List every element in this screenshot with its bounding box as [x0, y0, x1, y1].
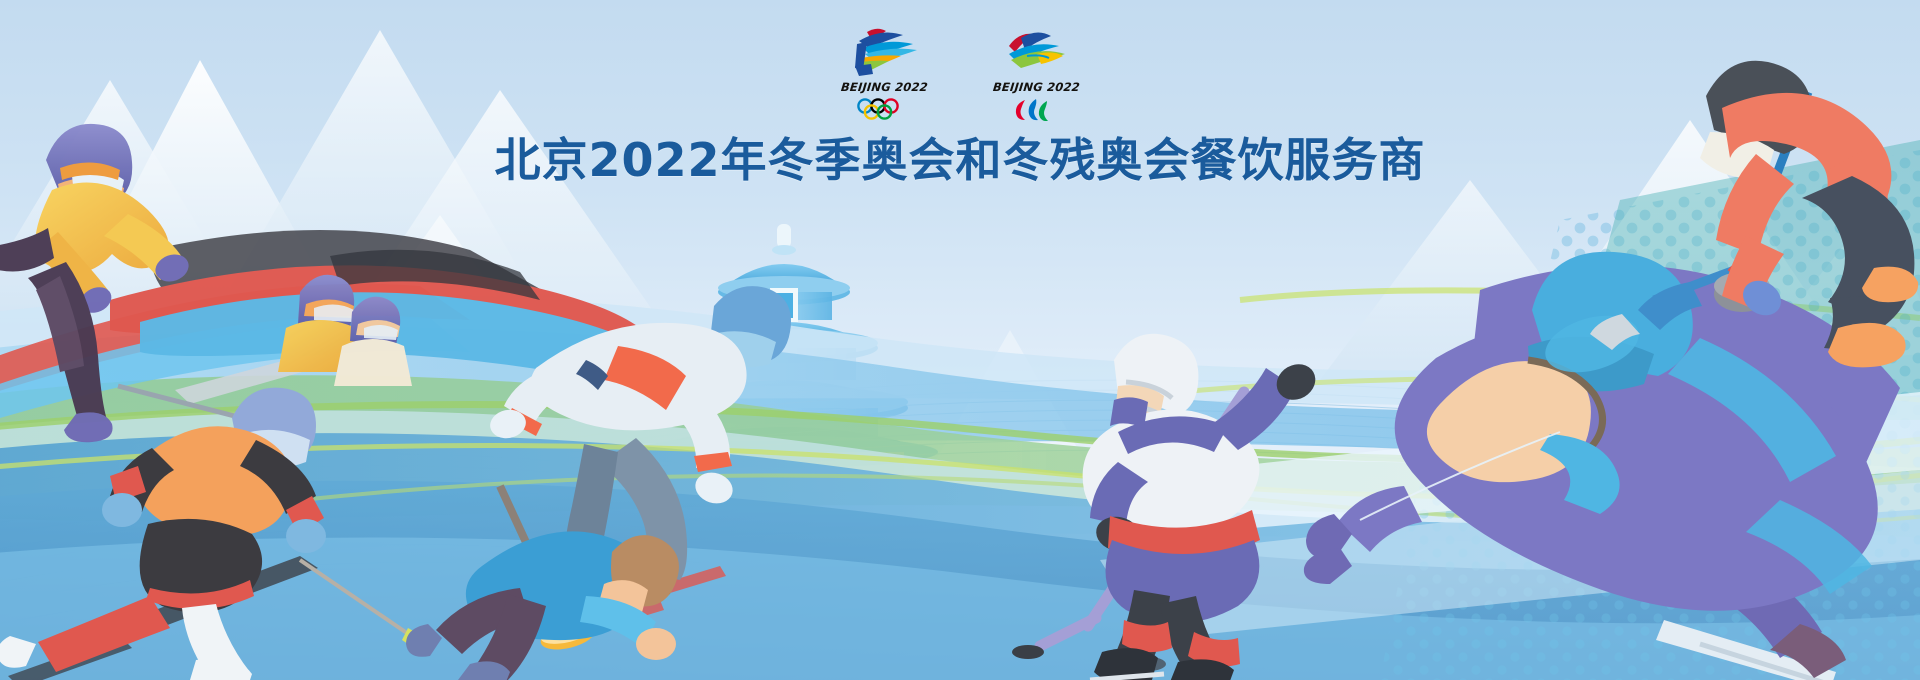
- speed-skater-large: [1304, 252, 1900, 680]
- athletes-layer: [0, 0, 1920, 680]
- curling-slider: [406, 486, 679, 680]
- cross-country-skier: [0, 388, 426, 680]
- olympic-banner: BEIJING 2022: [0, 0, 1920, 680]
- ice-hockey-player: [1012, 334, 1322, 680]
